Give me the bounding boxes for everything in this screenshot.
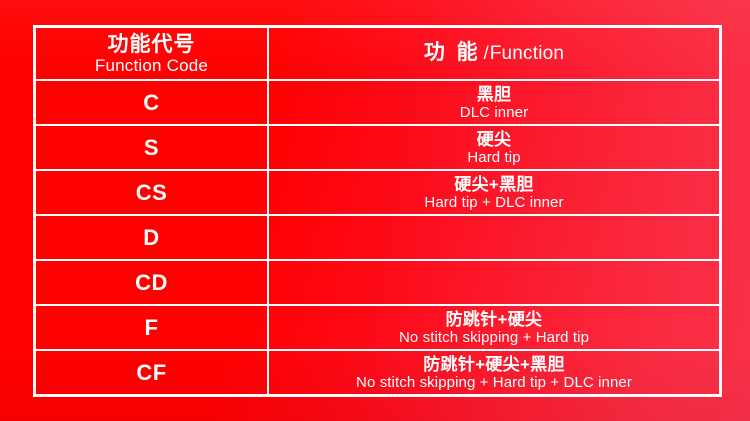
- row-function-cell: 防跳针+硬尖+黑胆 No stitch skipping + Hard tip …: [269, 351, 719, 394]
- header-code-chinese: 功能代号: [108, 33, 196, 56]
- function-code-table: 功能代号 Function Code 功 能 / Function C 黑胆 D…: [33, 25, 722, 397]
- header-function-english: Function: [490, 42, 564, 66]
- function-code-value: S: [144, 136, 159, 160]
- table-row: CF 防跳针+硬尖+黑胆 No stitch skipping + Hard t…: [36, 351, 719, 394]
- function-code-value: C: [143, 91, 159, 115]
- function-code-value: D: [143, 226, 159, 250]
- function-code-value: CD: [135, 271, 168, 295]
- row-function-cell: [269, 216, 719, 259]
- function-code-value: CF: [136, 361, 166, 385]
- table-row: D: [36, 216, 719, 261]
- row-function-cell: 黑胆 DLC inner: [269, 81, 719, 124]
- function-code-value: F: [145, 316, 159, 340]
- row-function-cell: 硬尖 Hard tip: [269, 126, 719, 169]
- header-cell-function-code: 功能代号 Function Code: [36, 28, 269, 79]
- function-english: DLC inner: [460, 104, 528, 121]
- function-english: Hard tip: [467, 149, 520, 166]
- function-code-value: CS: [136, 181, 168, 205]
- header-function-separator: /: [484, 41, 489, 65]
- poster-canvas: 功能代号 Function Code 功 能 / Function C 黑胆 D…: [0, 0, 750, 421]
- header-cell-function: 功 能 / Function: [269, 28, 719, 79]
- function-chinese: 防跳针+硬尖: [446, 310, 543, 329]
- table-header-row: 功能代号 Function Code 功 能 / Function: [36, 28, 719, 81]
- row-code-cell: CF: [36, 351, 269, 394]
- header-function-line: 功 能 / Function: [424, 41, 564, 66]
- row-function-cell: 防跳针+硬尖 No stitch skipping + Hard tip: [269, 306, 719, 349]
- table-row: F 防跳针+硬尖 No stitch skipping + Hard tip: [36, 306, 719, 351]
- table-row: C 黑胆 DLC inner: [36, 81, 719, 126]
- function-english: No stitch skipping + Hard tip + DLC inne…: [356, 374, 632, 391]
- row-code-cell: F: [36, 306, 269, 349]
- function-chinese: 硬尖: [477, 130, 512, 149]
- table-row: CS 硬尖+黑胆 Hard tip + DLC inner: [36, 171, 719, 216]
- function-chinese: 黑胆: [477, 85, 512, 104]
- function-chinese: 防跳针+硬尖+黑胆: [423, 355, 565, 374]
- row-code-cell: C: [36, 81, 269, 124]
- row-function-cell: [269, 261, 719, 304]
- table-row: S 硬尖 Hard tip: [36, 126, 719, 171]
- function-chinese: 硬尖+黑胆: [454, 175, 533, 194]
- header-code-english: Function Code: [95, 56, 208, 75]
- table-row: CD: [36, 261, 719, 306]
- row-code-cell: CD: [36, 261, 269, 304]
- row-code-cell: S: [36, 126, 269, 169]
- header-function-chinese: 功 能: [424, 41, 481, 65]
- row-code-cell: D: [36, 216, 269, 259]
- function-english: No stitch skipping + Hard tip: [399, 329, 589, 346]
- row-code-cell: CS: [36, 171, 269, 214]
- function-english: Hard tip + DLC inner: [424, 194, 563, 211]
- row-function-cell: 硬尖+黑胆 Hard tip + DLC inner: [269, 171, 719, 214]
